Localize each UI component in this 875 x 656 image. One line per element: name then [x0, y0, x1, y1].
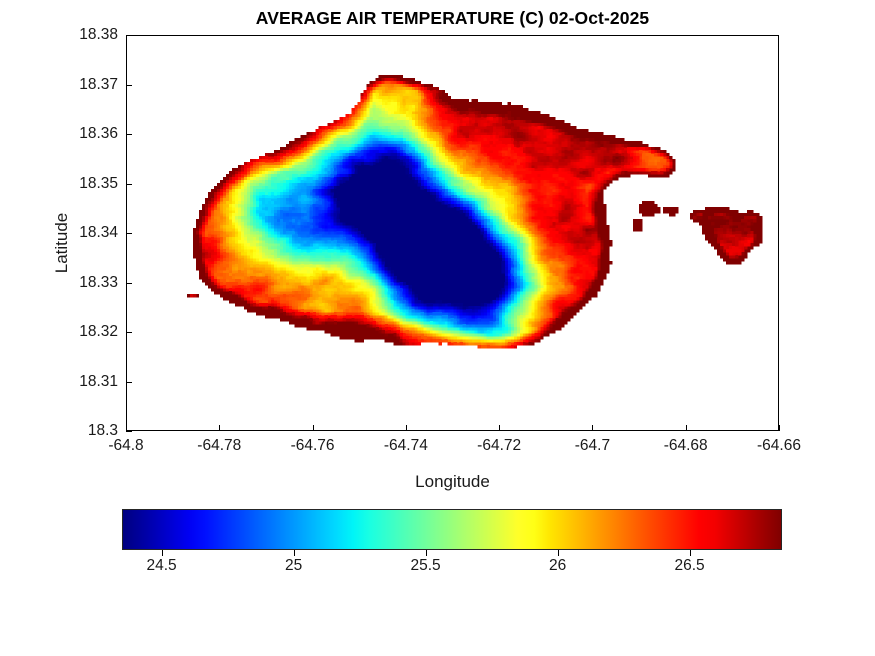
colorbar-tick-label: 24.5 [147, 557, 177, 575]
y-tick [126, 85, 132, 86]
x-tick-label: -64.76 [291, 437, 335, 455]
y-tick-label: 18.31 [50, 373, 118, 391]
colorbar-tick [162, 550, 163, 556]
colorbar-tick-label: 25.5 [411, 557, 441, 575]
x-tick-label: -64.7 [575, 437, 610, 455]
y-tick [126, 332, 132, 333]
x-axis-label: Longitude [126, 472, 779, 492]
colorbar-tick [426, 550, 427, 556]
colorbar-tick [690, 550, 691, 556]
y-tick-label: 18.34 [50, 224, 118, 242]
y-tick [126, 283, 132, 284]
y-tick-label: 18.32 [50, 323, 118, 341]
map-axes [126, 35, 779, 431]
y-tick-label: 18.38 [50, 26, 118, 44]
x-tick [313, 425, 314, 431]
x-tick-label: -64.74 [384, 437, 428, 455]
y-tick [126, 134, 132, 135]
y-tick-label: 18.37 [50, 76, 118, 94]
colorbar-tick-label: 26 [549, 557, 566, 575]
x-tick-label: -64.66 [757, 437, 801, 455]
y-tick [126, 184, 132, 185]
x-tick [406, 425, 407, 431]
y-tick [126, 431, 132, 432]
temperature-raster [127, 36, 779, 431]
x-tick [592, 425, 593, 431]
y-tick-label: 18.35 [50, 175, 118, 193]
figure-canvas: AVERAGE AIR TEMPERATURE (C) 02-Oct-2025 … [0, 0, 875, 656]
x-tick-label: -64.78 [197, 437, 241, 455]
colorbar-tick-label: 25 [285, 557, 302, 575]
x-tick [219, 425, 220, 431]
chart-title: AVERAGE AIR TEMPERATURE (C) 02-Oct-2025 [126, 8, 779, 29]
x-tick [499, 425, 500, 431]
y-tick [126, 35, 132, 36]
y-tick-label: 18.3 [50, 422, 118, 440]
y-tick-label: 18.33 [50, 274, 118, 292]
y-tick [126, 233, 132, 234]
x-tick-label: -64.72 [477, 437, 521, 455]
x-tick [686, 425, 687, 431]
colorbar-tick [294, 550, 295, 556]
colorbar-tick-label: 26.5 [675, 557, 705, 575]
y-tick-label: 18.36 [50, 125, 118, 143]
x-tick [779, 425, 780, 431]
colorbar-tick [558, 550, 559, 556]
x-tick-label: -64.68 [664, 437, 708, 455]
y-tick [126, 382, 132, 383]
colorbar-gradient [122, 509, 782, 550]
colorbar [122, 509, 782, 550]
